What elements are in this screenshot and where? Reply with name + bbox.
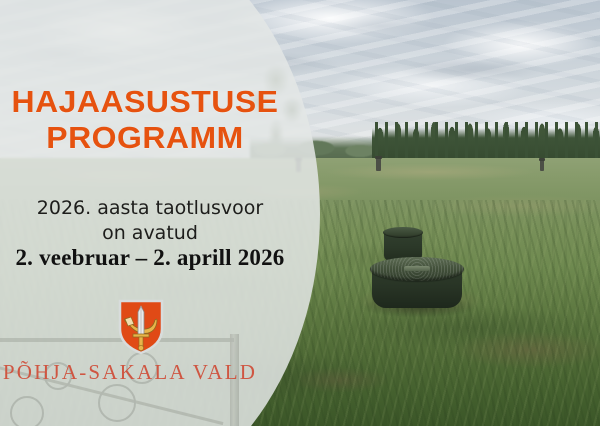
headline-line-1: HAJAASUSTUSE <box>0 84 294 120</box>
headline-line-2: PROGRAMM <box>0 120 294 156</box>
poster-canvas: HAJAASUSTUSE PROGRAMM 2026. aasta taotlu… <box>0 0 600 426</box>
application-period-dates: 2. veebruar – 2. aprill 2026 <box>0 245 300 271</box>
subline-line-1: 2026. aasta taotlusvoor <box>0 196 300 221</box>
shield-icon <box>118 299 164 355</box>
subline-line-2: on avatud <box>0 221 300 246</box>
field-post-right <box>376 158 381 171</box>
poster-subline: 2026. aasta taotlusvoor on avatud <box>0 196 300 246</box>
municipality-name: PÕHJA-SAKALA VALD <box>0 360 260 385</box>
poster-headline: HAJAASUSTUSE PROGRAMM <box>0 84 294 156</box>
septic-tank-large-lid <box>370 257 464 281</box>
septic-tank-small-lid <box>383 227 423 238</box>
field-post-far <box>540 160 544 171</box>
coat-of-arms-icon <box>118 299 164 355</box>
